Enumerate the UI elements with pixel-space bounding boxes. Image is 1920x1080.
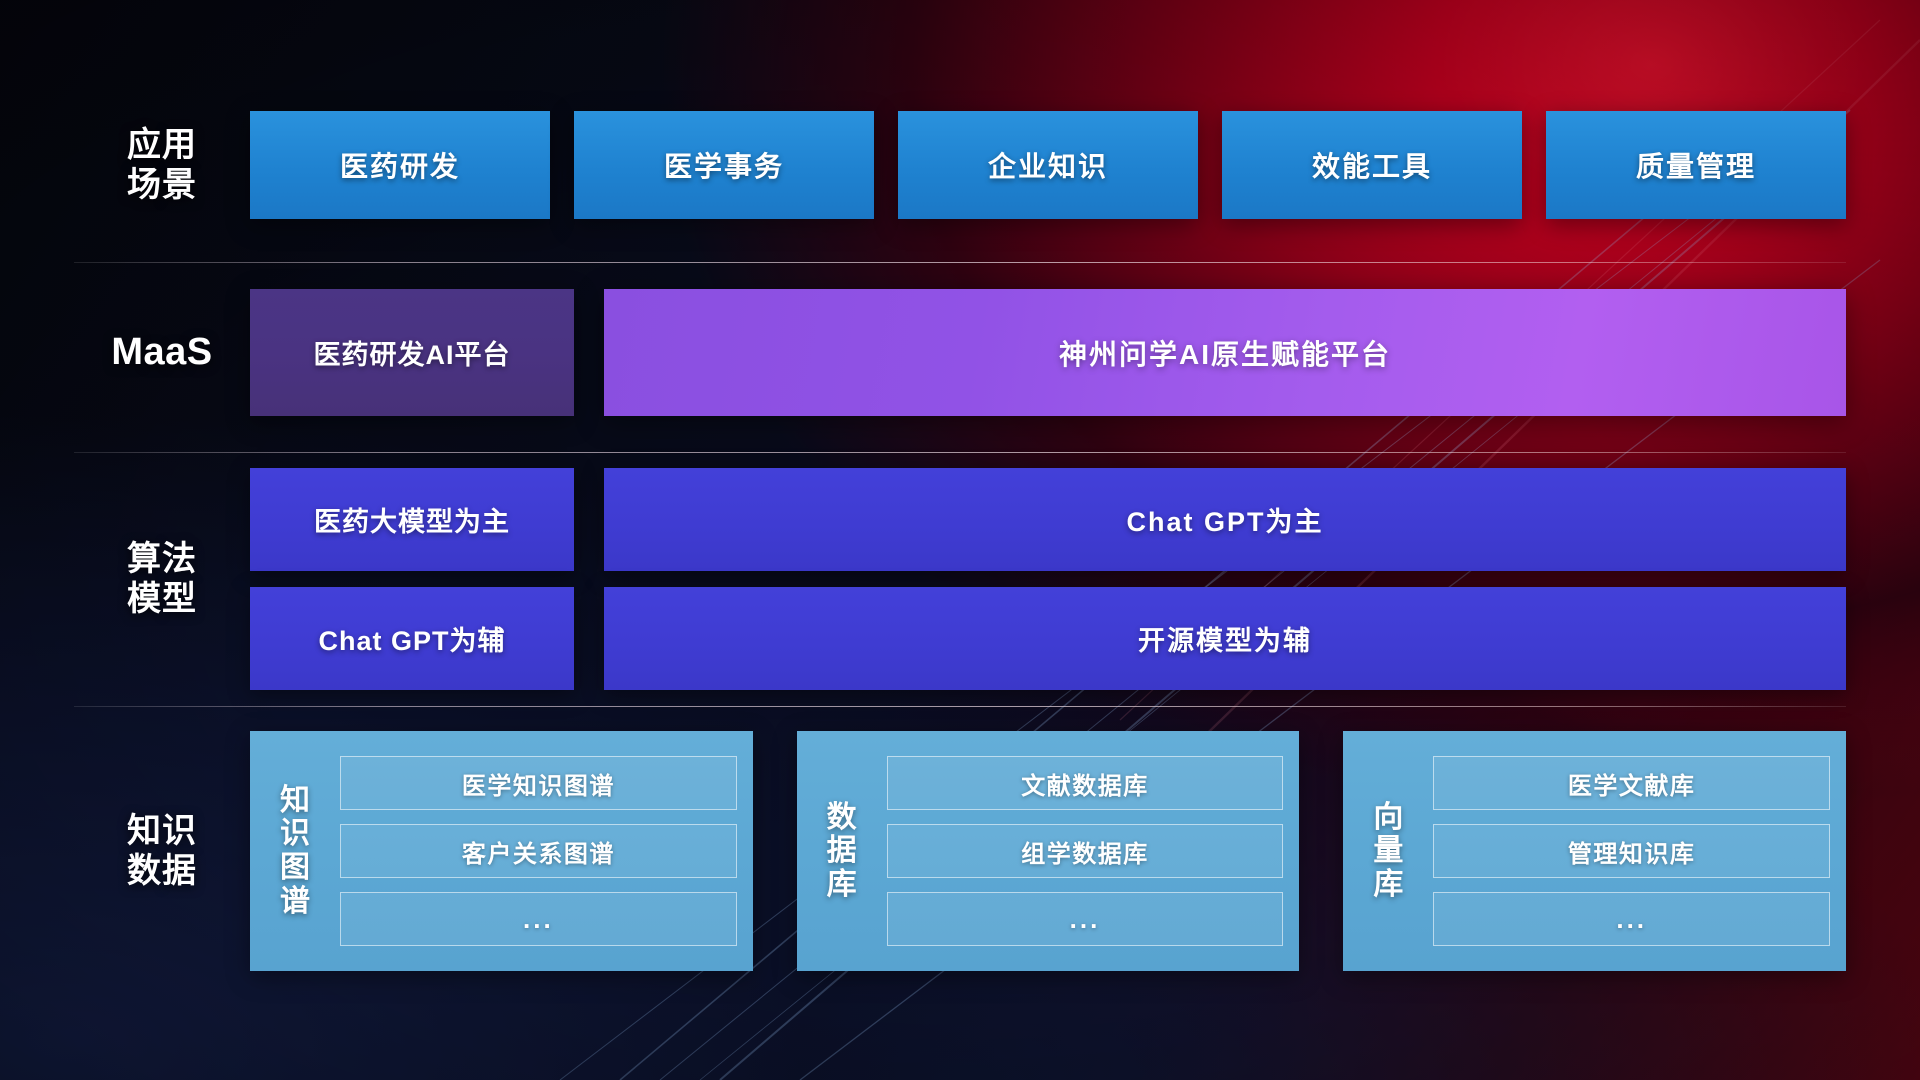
algorithm-line-secondary: Chat GPT为辅 开源模型为辅 [250,587,1846,690]
row-algorithm-models: 算法 模型 医药大模型为主 Chat GPT为主 Chat GPT为辅 开源模型… [74,468,1846,690]
knowledge-panel-database[interactable]: 数 据 库 文献数据库 组学数据库 ... [797,731,1300,971]
row-label-maas: MaaS [74,330,250,375]
knowledge-item-more-database[interactable]: ... [887,892,1284,946]
row-label-application-scenarios: 应用 场景 [74,125,250,205]
row-label-algorithm-models: 算法 模型 [74,539,250,619]
row-maas: MaaS 医药研发AI平台 神州问学AI原生赋能平台 [74,285,1846,420]
divider-algorithm-knowledge [74,706,1846,707]
algo-card-chatgpt-secondary[interactable]: Chat GPT为辅 [250,587,574,690]
knowledge-panel-label-knowledge-graph: 知 识 图 谱 [264,745,326,957]
app-card-enterprise-knowledge[interactable]: 企业知识 [898,111,1198,219]
row-application-scenarios: 应用 场景 医药研发 医学事务 企业知识 效能工具 质量管理 [74,100,1846,230]
app-card-drug-rd[interactable]: 医药研发 [250,111,550,219]
maas-card-shenzhou-wenxue-platform[interactable]: 神州问学AI原生赋能平台 [604,289,1846,416]
knowledge-item-literature-database[interactable]: 文献数据库 [887,756,1284,810]
app-card-quality-management[interactable]: 质量管理 [1546,111,1846,219]
knowledge-item-customer-relation-graph[interactable]: 客户关系图谱 [340,824,737,878]
architecture-diagram: 应用 场景 医药研发 医学事务 企业知识 效能工具 质量管理 MaaS 医药研发… [0,0,1920,1080]
row-label-knowledge-data: 知识 数据 [74,811,250,891]
knowledge-item-omics-database[interactable]: 组学数据库 [887,824,1284,878]
app-card-medical-affairs[interactable]: 医学事务 [574,111,874,219]
algo-card-opensource-secondary[interactable]: 开源模型为辅 [604,587,1846,690]
knowledge-item-management-knowledge-store[interactable]: 管理知识库 [1433,824,1830,878]
maas-card-drug-rd-ai-platform[interactable]: 医药研发AI平台 [250,289,574,416]
knowledge-item-medical-literature-store[interactable]: 医学文献库 [1433,756,1830,810]
knowledge-item-medical-knowledge-graph[interactable]: 医学知识图谱 [340,756,737,810]
knowledge-panel-vector-store[interactable]: 向 量 库 医学文献库 管理知识库 ... [1343,731,1846,971]
knowledge-panel-label-vector-store: 向 量 库 [1357,745,1419,957]
algorithm-line-primary: 医药大模型为主 Chat GPT为主 [250,468,1846,571]
divider-apps-maas [74,262,1846,263]
diagram-canvas: 应用 场景 医药研发 医学事务 企业知识 效能工具 质量管理 MaaS 医药研发… [0,0,1920,1080]
knowledge-panel-label-database: 数 据 库 [811,745,873,957]
algo-card-chatgpt-primary[interactable]: Chat GPT为主 [604,468,1846,571]
knowledge-panel-knowledge-graph[interactable]: 知 识 图 谱 医学知识图谱 客户关系图谱 ... [250,731,753,971]
row-knowledge-data: 知识 数据 知 识 图 谱 医学知识图谱 客户关系图谱 ... 数 据 库 [74,726,1846,976]
algo-card-pharma-llm-primary[interactable]: 医药大模型为主 [250,468,574,571]
divider-maas-algorithm [74,452,1846,453]
knowledge-item-more-vector[interactable]: ... [1433,892,1830,946]
app-card-efficiency-tools[interactable]: 效能工具 [1222,111,1522,219]
knowledge-item-more-graph[interactable]: ... [340,892,737,946]
